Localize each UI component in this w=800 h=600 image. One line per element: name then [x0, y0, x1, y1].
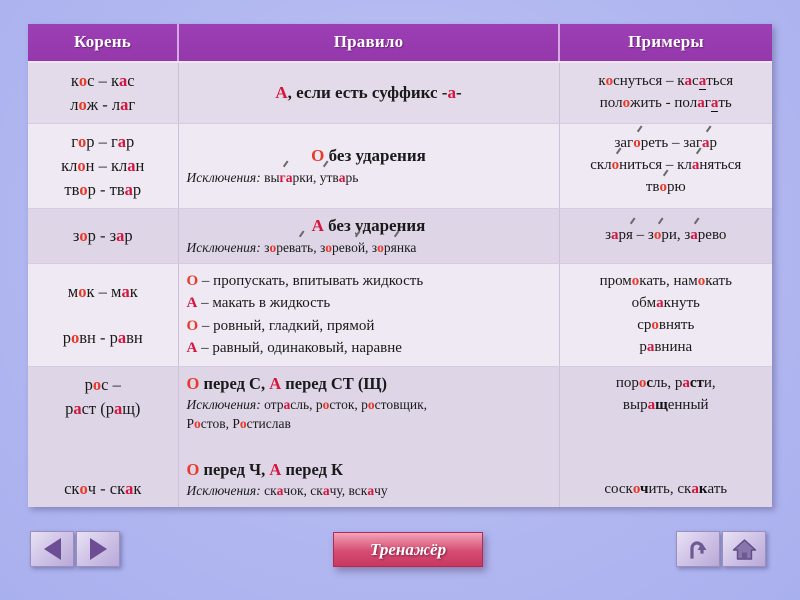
cell-root: гор – гар клон – клан твор - твар [28, 123, 178, 208]
header-root: Корень [28, 24, 178, 62]
back-button[interactable] [676, 531, 720, 567]
cell-rule: А, если есть суффикс -а- [178, 62, 559, 123]
header-row: Корень Правило Примеры [28, 24, 772, 62]
rule-line: О – ровный, гладкий, прямой [187, 315, 551, 338]
cell-root: рос – раст (ращ) скоч - скак [28, 366, 178, 506]
grammar-table: Корень Правило Примеры кос – кас лож - л… [28, 24, 772, 507]
table-row: гор – гар клон – клан твор - твар О без … [28, 123, 772, 208]
cell-root: мок – мак ровн - равн [28, 263, 178, 366]
rule-exceptions-text: Исключения: выгарки, утварь [187, 169, 551, 187]
cell-examples: загореть – загар склониться – кланяться … [559, 123, 772, 208]
home-button[interactable] [722, 531, 766, 567]
triangle-right-icon [90, 538, 107, 560]
header-rule: Правило [178, 24, 559, 62]
cell-rule: О без ударения Исключения: выгарки, утва… [178, 123, 559, 208]
rule-line: О – пропускать, впитывать жидкость [187, 270, 551, 293]
rule-main-text: О без ударения [187, 145, 551, 167]
rule-line: А – макать в жидкость [187, 292, 551, 315]
cell-examples: промокать, намокать обмакнуть сровнять р… [559, 263, 772, 366]
cell-rule: А без ударения Исключения: зоревать, зор… [178, 208, 559, 263]
rule-exceptions-text: Исключения: зоревать, зоревой, зорянка [187, 239, 551, 257]
table-header: Корень Правило Примеры [28, 24, 772, 62]
rule-main-text-2: О перед Ч, А перед К [187, 459, 551, 480]
cell-root: зор - зар [28, 208, 178, 263]
table-row: кос – кас лож - лаг А, если есть суффикс… [28, 62, 772, 123]
u-turn-arrow-icon [686, 537, 710, 561]
rule-main-text: А без ударения [187, 215, 551, 237]
cell-examples: заря – зори, зарево [559, 208, 772, 263]
rule-exceptions-text-2: Исключения: скачок, скачу, вскачу [187, 482, 551, 500]
cell-rule: О перед С, А перед СТ (Щ) Исключения: от… [178, 366, 559, 506]
triangle-left-icon [44, 538, 61, 560]
table-row: мок – мак ровн - равн О – пропускать, вп… [28, 263, 772, 366]
rule-exceptions-text: Исключения: отрасль, росток, ростовщик, … [187, 396, 551, 432]
rule-main-text: О перед С, А перед СТ (Щ) [187, 373, 551, 394]
rule-line: А – равный, одинаковый, наравне [187, 337, 551, 360]
table-row: зор - зар А без ударения Исключения: зор… [28, 208, 772, 263]
table-body: кос – кас лож - лаг А, если есть суффикс… [28, 62, 772, 507]
prev-slide-button[interactable] [30, 531, 74, 567]
trainer-button[interactable]: Тренажёр [333, 532, 483, 567]
rule-main-text: А, если есть суффикс -а- [187, 82, 551, 104]
cell-examples: коснуться – касаться положить - полагать [559, 62, 772, 123]
cell-root: кос – кас лож - лаг [28, 62, 178, 123]
next-slide-button[interactable] [76, 531, 120, 567]
header-examples: Примеры [559, 24, 772, 62]
cell-rule: О – пропускать, впитывать жидкость А – м… [178, 263, 559, 366]
table-row: рос – раст (ращ) скоч - скак О перед С, … [28, 366, 772, 506]
cell-examples: поросль, расти, выращенный соскочить, ск… [559, 366, 772, 506]
grammar-table-container: Корень Правило Примеры кос – кас лож - л… [28, 24, 772, 507]
presentation-slide: Корень Правило Примеры кос – кас лож - л… [0, 0, 800, 600]
home-icon [732, 538, 757, 561]
